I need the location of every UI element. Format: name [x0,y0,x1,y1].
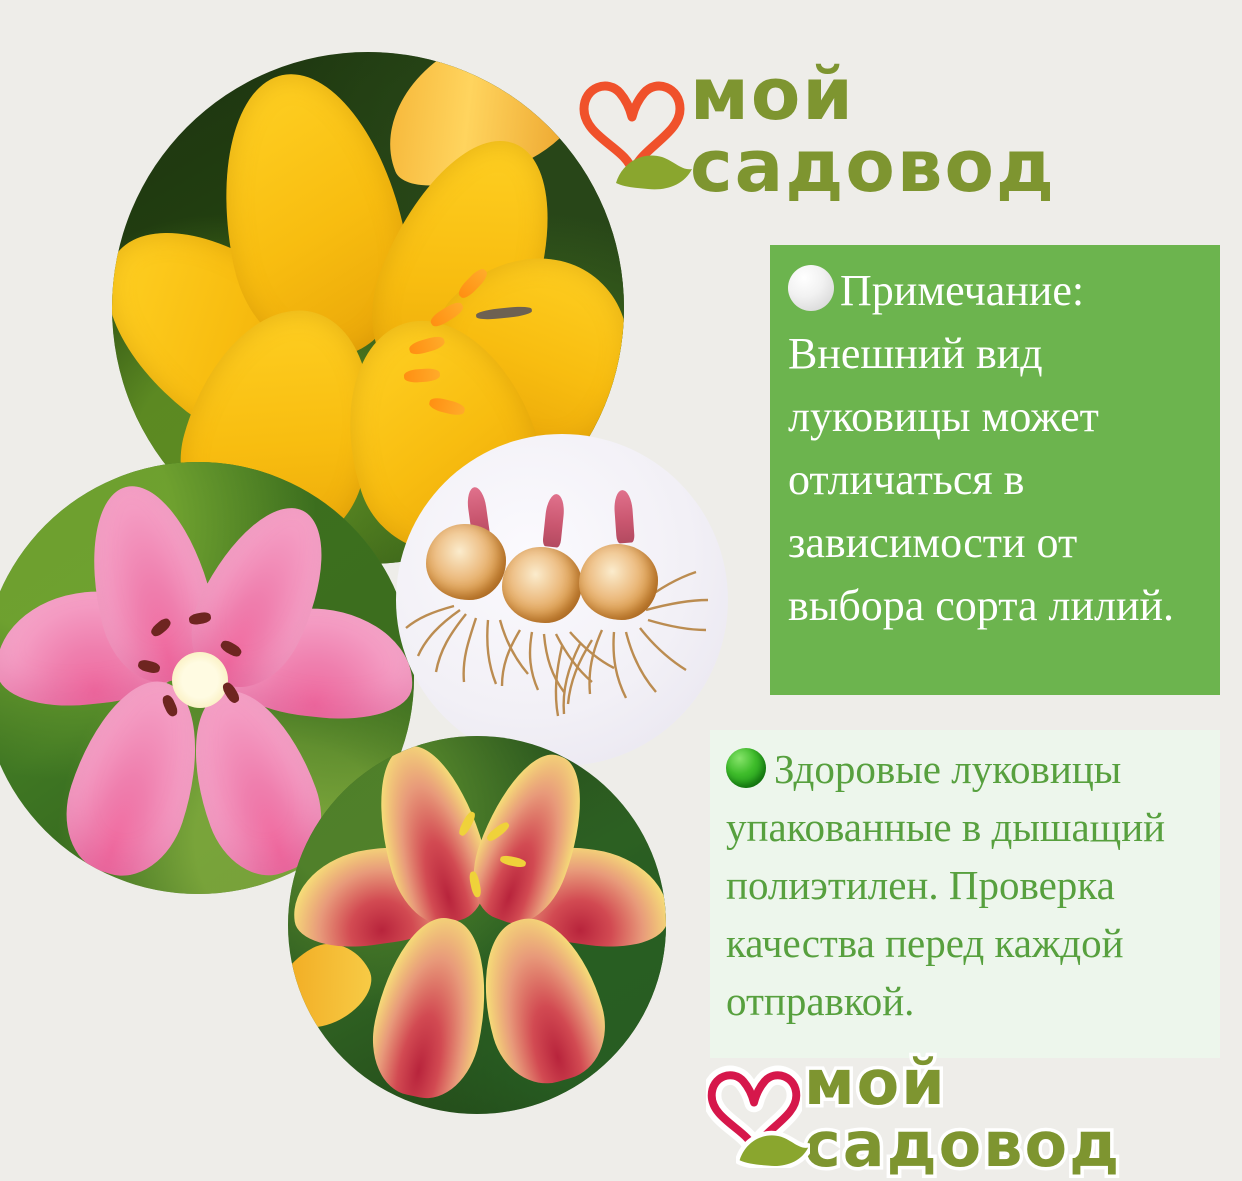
white-sphere-icon [788,265,834,311]
note-box-content: Примечание: Внешний вид луковицы может о… [788,259,1202,637]
lily-bulb [579,544,659,620]
photo-red-yellow-lily [288,736,666,1114]
brand-name-text: мой садовод [690,58,1242,202]
brand-logo-watermark[interactable]: мой садовод [706,1052,1242,1176]
photo-lily-bulbs [396,434,728,766]
heart-leaf-logo-mark [706,1062,802,1166]
note-body: Внешний вид луковицы может отличаться в … [788,329,1174,630]
brand-name-text: мой садовод [804,1052,1242,1176]
note-box: Примечание: Внешний вид луковицы может о… [770,245,1220,695]
lily-bulb [502,547,582,623]
poster-canvas: мой садовод Примечание: Внешний вид луко… [0,0,1242,1164]
lily-bulb [426,524,506,600]
leaf-icon [612,139,694,191]
pink-lily-core [172,652,228,708]
leaf-icon [736,1120,810,1168]
brand-logo-header[interactable]: мой садовод [578,58,1242,202]
quality-box: Здоровые луковицы упакованные в дышащий … [710,730,1220,1058]
quality-body: Здоровые луковицы упакованные в дышащий … [726,746,1165,1024]
heart-leaf-logo-mark [578,71,686,189]
note-heading: Примечание: [840,266,1084,315]
quality-box-content: Здоровые луковицы упакованные в дышащий … [726,740,1206,1030]
green-sphere-icon [726,748,766,788]
